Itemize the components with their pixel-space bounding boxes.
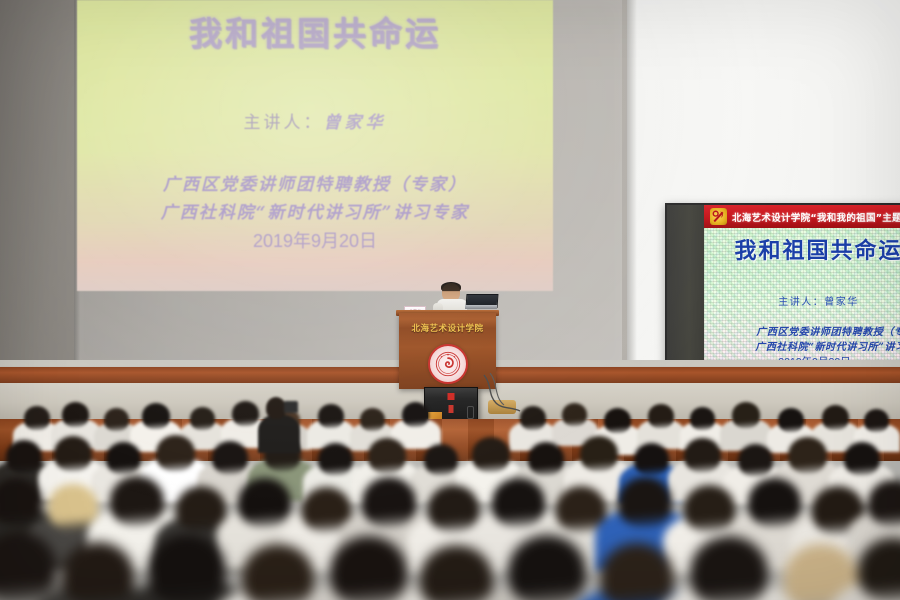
slide-presenter-name: 曾家华	[324, 113, 387, 133]
audience-member-head	[508, 535, 586, 600]
photographer-head	[266, 397, 286, 419]
audience-member-head	[62, 542, 134, 600]
led-presenter-label: 主讲人：	[778, 297, 824, 308]
led-presenter-line: 主讲人：曾家华	[714, 293, 900, 308]
wall-corner-shadow	[627, 0, 637, 418]
audience-member-head	[690, 536, 768, 600]
audience-member-head	[330, 536, 407, 600]
led-banner-text: 北海艺术设计学院“我和我的祖国”主题宣讲活动	[732, 210, 900, 224]
photographer-torso	[258, 415, 300, 453]
led-slide-title: 我和祖国共命运	[714, 233, 900, 265]
laptop-computer	[466, 294, 496, 309]
slide-credential-line-2: 广西社科院“新时代讲习所”讲习专家	[77, 198, 553, 223]
slide-title: 我和祖国共命运	[77, 7, 553, 55]
lecture-hall-photo: 我和祖国共命运 主讲人：曾家华 广西区党委讲师团特聘教授（专家） 广西社科院“新…	[0, 0, 900, 600]
audience-member-head	[242, 544, 314, 600]
audience-row-front-row	[0, 392, 900, 600]
led-credential-line-1: 广西区党委讲师团特聘教授（专	[726, 323, 900, 338]
led-credential-line-2: 广西社科院“新时代讲习所”讲习	[726, 338, 900, 353]
laptop-keyboard-base	[465, 305, 497, 309]
camera-icon	[284, 401, 298, 413]
audience-member-head	[420, 545, 493, 600]
audience-seating-area	[0, 392, 900, 600]
audience-member-head	[148, 534, 226, 600]
communist-party-emblem-icon	[710, 208, 727, 225]
led-presenter-name: 曾家华	[824, 297, 859, 308]
audience-member-head	[858, 538, 900, 600]
audience-photographer	[258, 395, 300, 453]
audience-member-head	[0, 532, 56, 600]
audience-member-head	[600, 543, 674, 600]
projected-slide: 我和祖国共命运 主讲人：曾家华 广西区党委讲师团特聘教授（专家） 广西社科院“新…	[77, 0, 553, 291]
slide-presenter-label: 主讲人：	[244, 113, 324, 133]
slide-presenter-line: 主讲人：曾家华	[77, 108, 553, 133]
school-crest-logo-icon	[428, 344, 468, 384]
podium-institution-text: 北海艺术设计学院	[399, 322, 496, 334]
slide-credential-line-1: 广西区党委讲师团特聘教授（专家）	[77, 170, 553, 195]
led-banner: 北海艺术设计学院“我和我的祖国”主题宣讲活动	[704, 205, 900, 228]
slide-date: 2019年9月20日	[77, 227, 553, 253]
